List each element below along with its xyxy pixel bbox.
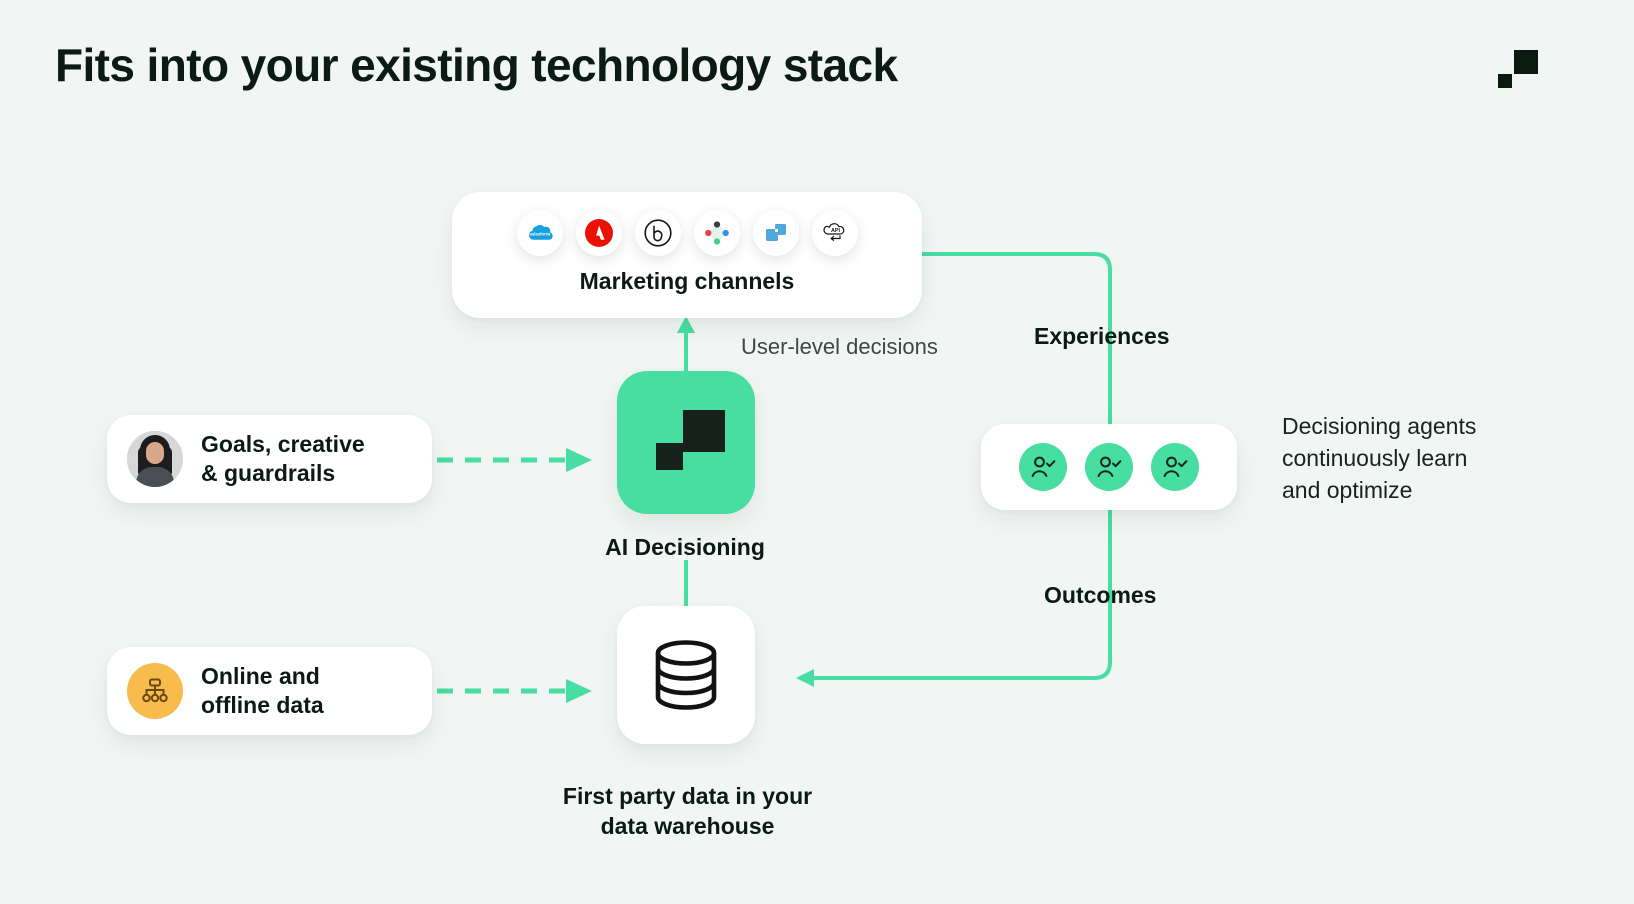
logo-square-small (1498, 74, 1512, 88)
brand-logo-icon (1498, 50, 1538, 88)
svg-text:API: API (831, 228, 840, 234)
brand-mark-square-large (683, 410, 725, 452)
input-card-data-text: Online and offline data (201, 662, 324, 720)
input-card-goals-text: Goals, creative & guardrails (201, 430, 365, 488)
label-experiences: Experiences (1034, 323, 1170, 350)
user-check-icon[interactable] (1019, 443, 1067, 491)
data-warehouse-label: First party data in your data warehouse (480, 781, 895, 841)
user-check-icon[interactable] (1085, 443, 1133, 491)
note-line1: Decisioning agents (1282, 410, 1582, 442)
input-data-line2: offline data (201, 691, 324, 720)
braze-icon[interactable] (635, 210, 681, 256)
klaviyo-icon[interactable] (753, 210, 799, 256)
adobe-icon[interactable] (576, 210, 622, 256)
api-cloud-icon[interactable]: API (812, 210, 858, 256)
salesforce-icon[interactable]: salesforce (517, 210, 563, 256)
logo-square-large (1514, 50, 1538, 74)
data-warehouse-node[interactable] (617, 606, 755, 744)
marketing-channels-label: Marketing channels (452, 268, 922, 295)
marketing-channels-card[interactable]: salesforce (452, 192, 922, 318)
input-goals-line1: Goals, creative (201, 430, 365, 459)
marketing-channels-icon-row: salesforce (452, 210, 922, 256)
input-card-goals[interactable]: Goals, creative & guardrails (107, 415, 432, 503)
svg-text:salesforce: salesforce (529, 231, 550, 236)
label-outcomes: Outcomes (1044, 582, 1156, 609)
database-icon (650, 637, 722, 713)
page-title: Fits into your existing technology stack (55, 38, 897, 92)
label-user-level-decisions: User-level decisions (741, 334, 938, 360)
ai-decisioning-node[interactable] (617, 371, 755, 514)
input-card-data[interactable]: Online and offline data (107, 647, 432, 735)
note-line3: and optimize (1282, 474, 1582, 506)
user-check-icon[interactable] (1151, 443, 1199, 491)
iterable-icon[interactable] (694, 210, 740, 256)
ai-decisioning-label: AI Decisioning (530, 534, 840, 561)
diagram-canvas: Fits into your existing technology stack (0, 0, 1634, 904)
input-data-line1: Online and (201, 662, 324, 691)
brand-mark-square-small (656, 443, 683, 470)
data-warehouse-label-line2: data warehouse (480, 811, 895, 841)
sitemap-hierarchy-icon (127, 663, 183, 719)
decisioning-agents-card[interactable] (981, 424, 1237, 510)
decisioning-agents-note: Decisioning agents continuously learn an… (1282, 410, 1582, 506)
input-goals-line2: & guardrails (201, 459, 365, 488)
user-photo-avatar-icon (127, 431, 183, 487)
data-warehouse-label-line1: First party data in your (480, 781, 895, 811)
note-line2: continuously learn (1282, 442, 1582, 474)
